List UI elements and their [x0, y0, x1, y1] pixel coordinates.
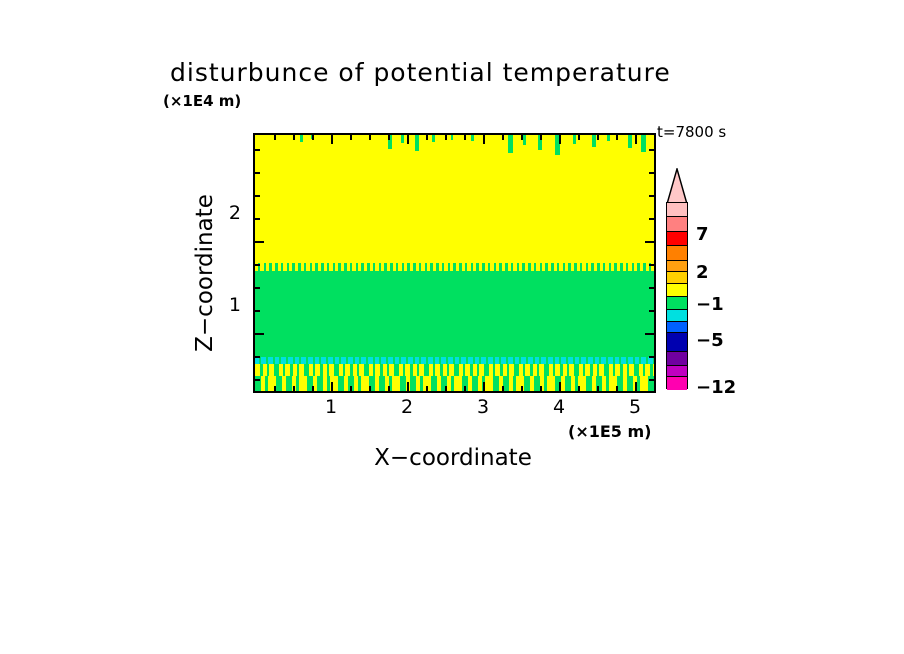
axis-tick-left [255, 310, 260, 312]
axis-tick-right [649, 356, 654, 358]
colorbar-segment [667, 297, 687, 310]
axis-tick-right [645, 333, 654, 335]
axis-tick-bottom [521, 386, 523, 391]
x-tick-label: 3 [463, 396, 503, 418]
axis-tick-bottom [635, 382, 637, 391]
axis-tick-top [350, 135, 352, 140]
axis-tick-right [649, 287, 654, 289]
x-unit-label: (×1E5 m) [568, 422, 651, 441]
colorbar-tick-label: 7 [696, 224, 709, 245]
contour-spike [628, 135, 632, 148]
axis-tick-bottom [388, 386, 390, 391]
colorbar: 7 2 −1 −5 −12 [666, 168, 688, 389]
colorbar-segment [667, 352, 687, 366]
colorbar-segment [667, 377, 687, 390]
axis-tick-left [255, 218, 260, 220]
axis-tick-bottom [293, 386, 295, 391]
axis-tick-top [407, 135, 409, 144]
axis-tick-top [312, 135, 314, 140]
colorbar-segment [667, 284, 687, 297]
axis-tick-top [293, 135, 295, 140]
colorbar-segment [667, 333, 687, 352]
colorbar-tick-label: −5 [696, 330, 724, 351]
axis-tick-top [426, 135, 428, 140]
region-mid-green [255, 271, 654, 361]
colorbar-segment [667, 261, 687, 272]
colorbar-segment [667, 366, 687, 377]
axis-tick-top [464, 135, 466, 140]
axis-tick-left [255, 264, 260, 266]
colorbar-segment [667, 232, 687, 246]
contour-spike [607, 135, 610, 141]
axis-tick-top [635, 135, 637, 144]
axis-tick-top [616, 135, 618, 140]
axis-tick-top [578, 135, 580, 140]
region-lower-mixed [255, 364, 654, 376]
region-bottom-strip [255, 376, 654, 391]
x-axis-title: X−coordinate [253, 445, 653, 471]
axis-tick-top [483, 135, 485, 144]
axis-tick-left [255, 356, 260, 358]
x-tick-label: 1 [311, 396, 351, 418]
axis-tick-bottom [407, 382, 409, 391]
axis-tick-bottom [578, 386, 580, 391]
axis-tick-top [445, 135, 447, 140]
colorbar-segment [667, 203, 687, 217]
axis-tick-bottom [502, 386, 504, 391]
region-upper-yellow [255, 135, 654, 271]
contour-spike [471, 135, 474, 141]
colorbar-tick-label: 2 [696, 262, 709, 283]
axis-tick-bottom [597, 386, 599, 391]
contour-spike [592, 135, 596, 147]
axis-tick-left [255, 195, 260, 197]
colorbar-body [666, 202, 688, 389]
axis-tick-top [331, 135, 333, 144]
axis-tick-bottom [464, 386, 466, 391]
colorbar-tick-label: −12 [696, 377, 736, 398]
time-stamp-label: t=7800 s [657, 123, 726, 141]
x-tick-label: 2 [387, 396, 427, 418]
axis-tick-bottom [616, 386, 618, 391]
axis-tick-top [274, 135, 276, 140]
contour-spike [508, 135, 513, 153]
axis-tick-left [255, 287, 260, 289]
axis-tick-left [255, 241, 264, 243]
y-unit-label: (×1E4 m) [163, 92, 241, 110]
colorbar-segment [667, 272, 687, 284]
colorbar-arrow-icon [666, 168, 688, 204]
axis-tick-right [645, 241, 654, 243]
axis-tick-left [255, 172, 260, 174]
axis-tick-bottom [350, 386, 352, 391]
colorbar-segment [667, 310, 687, 322]
axis-tick-left [255, 333, 264, 335]
x-tick-label: 5 [615, 396, 655, 418]
contour-spike [415, 135, 419, 151]
axis-tick-left [255, 149, 260, 151]
x-tick-label: 4 [539, 396, 579, 418]
contour-spike [451, 135, 453, 140]
axis-tick-bottom [274, 386, 276, 391]
axis-tick-bottom [331, 382, 333, 391]
axis-tick-bottom [312, 386, 314, 391]
axis-tick-top [388, 135, 390, 140]
axis-tick-right [649, 195, 654, 197]
axis-tick-bottom [540, 386, 542, 391]
axis-tick-bottom [445, 386, 447, 391]
contour-spike [641, 135, 646, 152]
axis-tick-top [502, 135, 504, 140]
axis-tick-top [369, 135, 371, 140]
axis-tick-right [649, 172, 654, 174]
colorbar-tick-label: −1 [696, 294, 724, 315]
page-title: disturbunce of potential temperature [170, 58, 770, 87]
contour-spike [523, 135, 526, 145]
colorbar-segment [667, 246, 687, 260]
axis-tick-right [649, 264, 654, 266]
axis-tick-top [559, 135, 561, 144]
y-axis-title: Z−coordinate [192, 153, 218, 393]
axis-tick-bottom [426, 386, 428, 391]
axis-tick-left [255, 379, 260, 381]
contour-spike [432, 135, 435, 142]
colorbar-segment [667, 217, 687, 231]
axis-tick-right [649, 218, 654, 220]
contour-spike [300, 135, 303, 142]
axis-tick-top [521, 135, 523, 140]
axis-tick-right [649, 379, 654, 381]
contour-spike [401, 135, 404, 143]
axis-tick-top [540, 135, 542, 140]
axis-tick-bottom [559, 382, 561, 391]
chart-canvas: disturbunce of potential temperature (×1… [0, 0, 904, 654]
plot-area [253, 133, 656, 393]
colorbar-segment [667, 322, 687, 333]
axis-tick-bottom [369, 386, 371, 391]
axis-tick-bottom [483, 382, 485, 391]
contour-spike [573, 135, 576, 144]
axis-tick-top [597, 135, 599, 140]
axis-tick-right [649, 149, 654, 151]
axis-tick-right [649, 310, 654, 312]
